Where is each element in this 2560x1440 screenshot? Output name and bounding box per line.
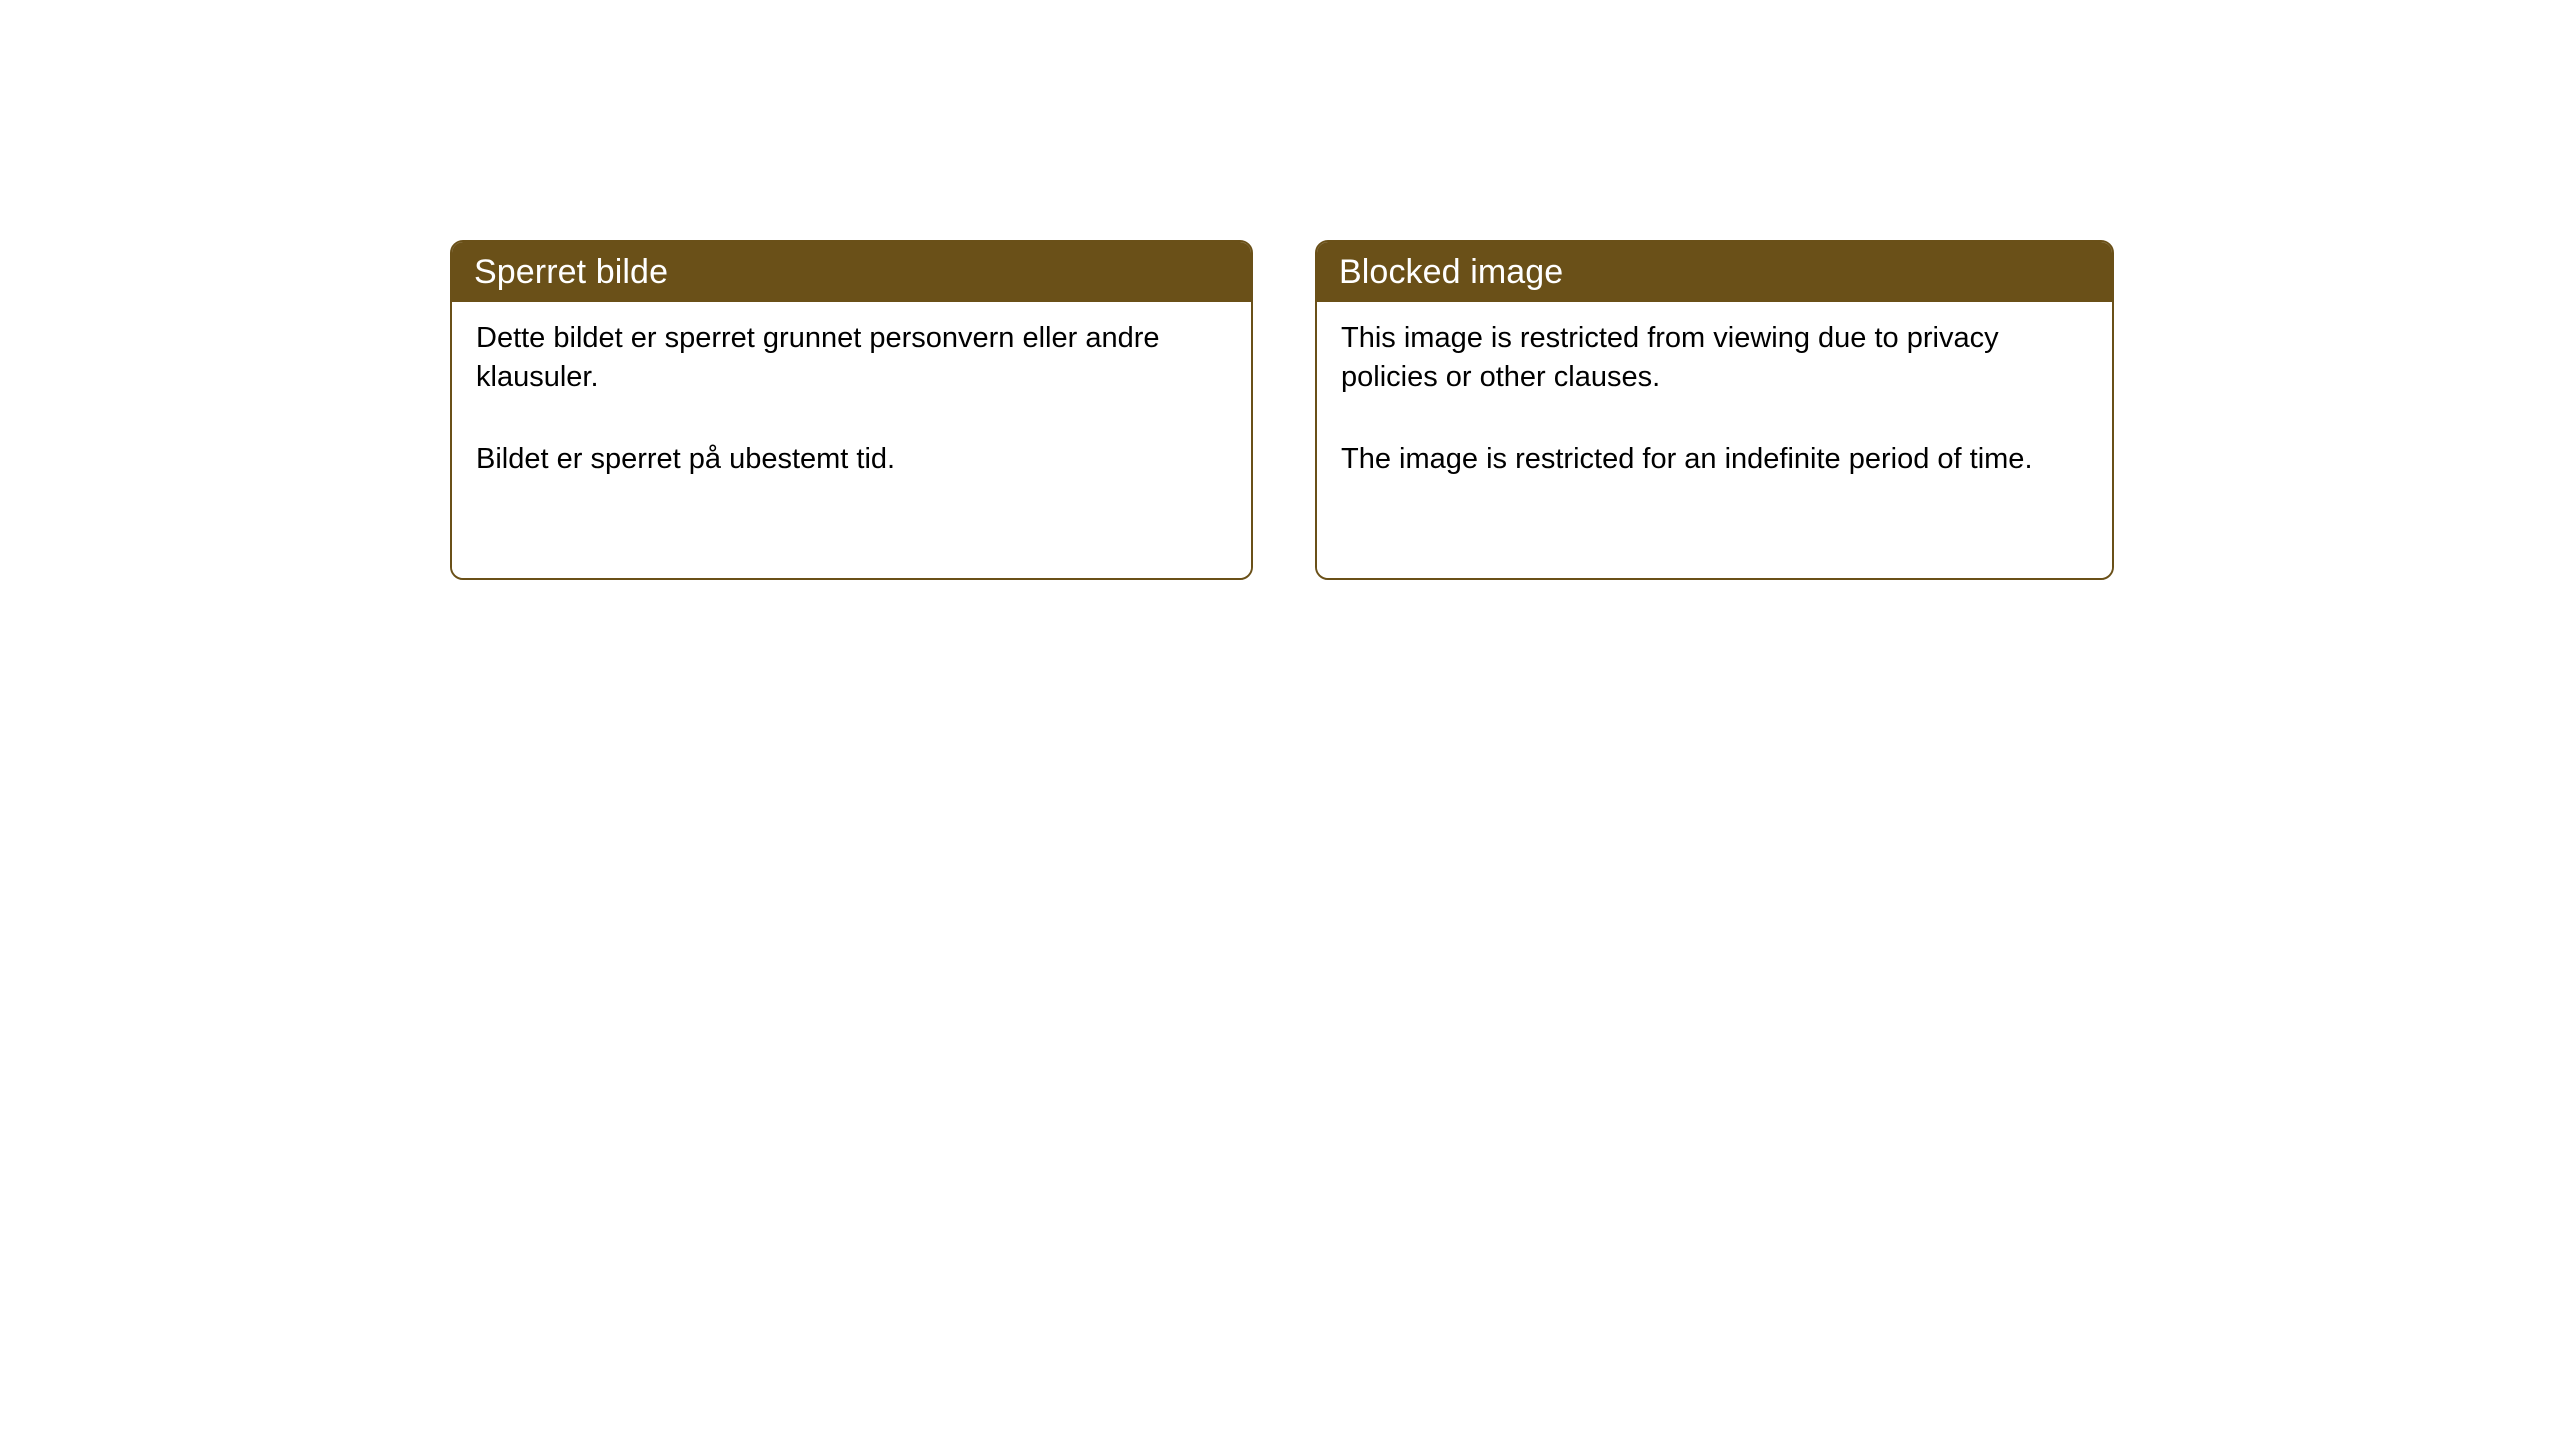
panel-header-english: Blocked image	[1317, 242, 2112, 302]
panel-title-norwegian: Sperret bilde	[474, 255, 668, 289]
panel-paragraph-norwegian-1: Dette bildet er sperret grunnet personve…	[476, 319, 1231, 398]
panel-body-norwegian: Dette bildet er sperret grunnet personve…	[452, 302, 1251, 578]
panel-paragraph-english-1: This image is restricted from viewing du…	[1341, 319, 2092, 398]
panel-title-english: Blocked image	[1339, 255, 1563, 289]
panel-header-norwegian: Sperret bilde	[452, 242, 1251, 302]
panel-paragraph-norwegian-2: Bildet er sperret på ubestemt tid.	[476, 440, 1231, 479]
blocked-image-panel-norwegian: Sperret bilde Dette bildet er sperret gr…	[450, 240, 1253, 580]
panel-paragraph-english-2: The image is restricted for an indefinit…	[1341, 440, 2092, 479]
blocked-image-panel-english: Blocked image This image is restricted f…	[1315, 240, 2114, 580]
page-canvas: Sperret bilde Dette bildet er sperret gr…	[0, 0, 2560, 1440]
panel-body-english: This image is restricted from viewing du…	[1317, 302, 2112, 578]
